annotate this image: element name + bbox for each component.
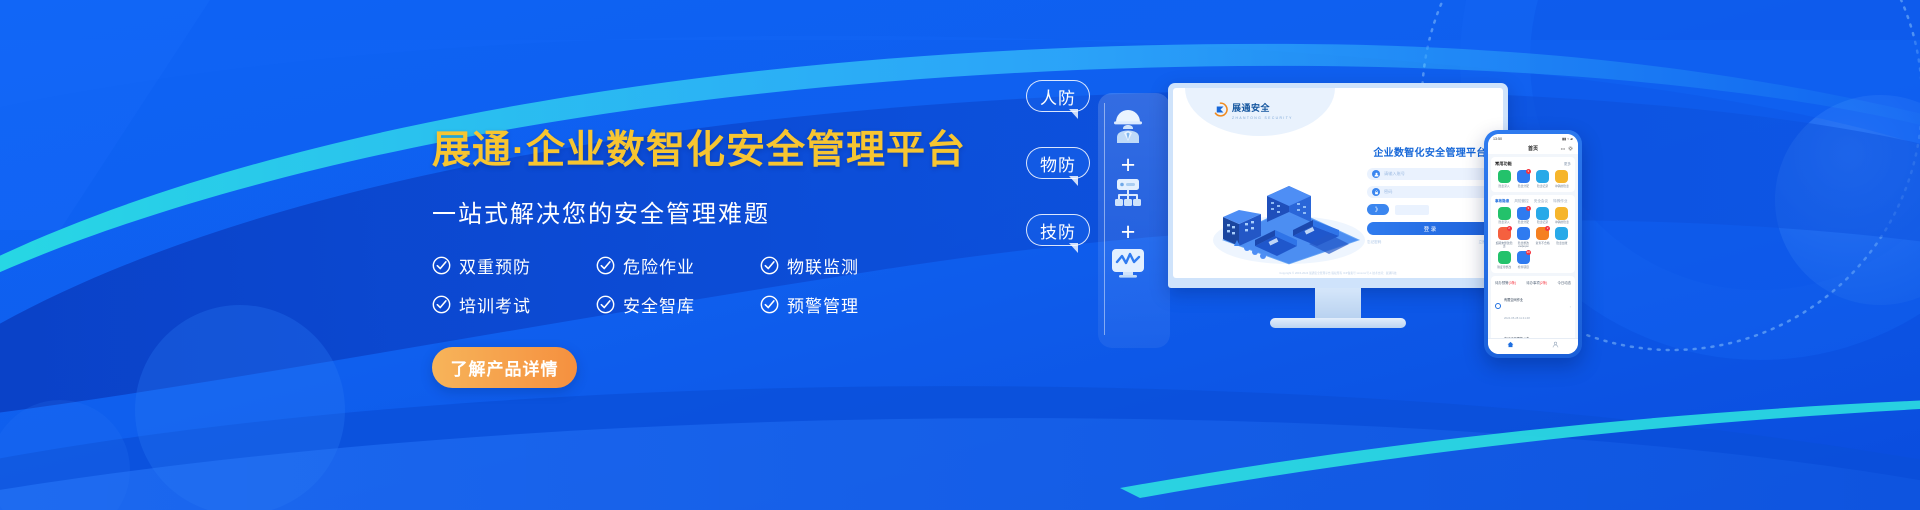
- forgot-password-link[interactable]: 忘记密码: [1367, 240, 1381, 245]
- defense-connector-line: [1104, 103, 1105, 335]
- app-icon: [1555, 227, 1568, 240]
- monitor-bezel: 展通安全 ZHANTONG SECURITY: [1168, 83, 1508, 288]
- feature-label: 危险作业: [623, 253, 695, 278]
- app-label: 隐患分配: [1518, 185, 1529, 188]
- feature-item-1: 危险作业: [596, 253, 714, 278]
- tab-item[interactable]: 风险管控: [1514, 199, 1528, 204]
- nav-title: 首页: [1528, 145, 1538, 152]
- product-visual: 人防 物防 技防 + +: [1020, 55, 1660, 475]
- app-cell[interactable]: 隐患录入: [1495, 207, 1513, 225]
- mobile-phone-mockup: 13:50 ▮▮ ⌁ ▰ 首页 ••• 常用功能 更多: [1484, 130, 1582, 358]
- app-cell[interactable]: 冲销的隐患: [1553, 170, 1571, 188]
- isometric-city-illustration: [1193, 174, 1373, 266]
- feature-label: 预警管理: [787, 292, 859, 317]
- learn-more-button[interactable]: 了解产品详情: [432, 347, 577, 388]
- app-label: 冲销的隐患: [1555, 221, 1569, 224]
- list-tab-todo-label: 待办事项: [1526, 281, 1540, 285]
- desktop-monitor: 展通安全 ZHANTONG SECURITY: [1168, 83, 1508, 328]
- feature-row-2: 培训考试 安全智库 预警管理: [432, 292, 952, 317]
- phone-screen: 13:50 ▮▮ ⌁ ▰ 首页 ••• 常用功能 更多: [1488, 134, 1578, 354]
- app-label: 隐患整改информ: [1514, 242, 1532, 248]
- monitor-screen: 展通安全 ZHANTONG SECURITY: [1173, 88, 1503, 278]
- feature-item-5: 预警管理: [760, 292, 878, 317]
- defense-label-wufang: 物防: [1026, 147, 1090, 179]
- app-cell[interactable]: 2 超期未整改隐患: [1495, 227, 1513, 248]
- password-placeholder: 密码: [1384, 189, 1392, 195]
- app-label: 冲销的隐患: [1555, 185, 1569, 188]
- app-label: 隐患录入: [1499, 185, 1510, 188]
- captcha-row[interactable]: 》: [1367, 204, 1493, 215]
- app-label: 隐患分配: [1518, 221, 1529, 224]
- tab-item[interactable]: 特殊作业: [1553, 199, 1567, 204]
- login-links: 忘记密码 立即注册: [1367, 240, 1493, 245]
- user-icon: [1372, 170, 1380, 178]
- captcha-track: [1395, 205, 1429, 215]
- feature-row-1: 双重预防 危险作业 物联监测: [432, 253, 952, 278]
- list-item[interactable]: 有限空间作业 2024-05-28 11:41:48 ›: [1495, 288, 1571, 324]
- app-label: 隐患录入: [1499, 221, 1510, 224]
- check-circle-icon: [760, 295, 779, 314]
- app-grid: 隐患录入 3 隐患分配 隐患记录: [1495, 170, 1571, 188]
- app-label: 超期未整改隐患: [1495, 242, 1513, 248]
- app-cell[interactable]: 3 隐患分配: [1514, 207, 1532, 225]
- badge-count: 2: [1507, 226, 1512, 231]
- app-cell[interactable]: 隐患整改информ: [1514, 227, 1532, 248]
- app-cell[interactable]: 隐患录入: [1495, 170, 1513, 188]
- captcha-slider-button[interactable]: 》: [1367, 204, 1389, 215]
- logo-wordmark: 展通安全: [1232, 103, 1270, 113]
- tabbar-item-profile[interactable]: 我的: [1552, 335, 1559, 354]
- feature-item-0: 双重预防: [432, 253, 550, 278]
- app-label: 验证待整改: [1497, 266, 1511, 269]
- tab-item[interactable]: 事故隐患: [1495, 199, 1509, 204]
- list-bullet-icon: [1495, 303, 1501, 309]
- check-circle-icon: [596, 295, 615, 314]
- monitor-stand-neck: [1315, 288, 1361, 318]
- phone-navbar: 首页 •••: [1488, 143, 1578, 154]
- section-action[interactable]: 更多: [1564, 162, 1571, 167]
- app-cell[interactable]: 隐患记录: [1534, 207, 1552, 225]
- phone-section-common: 常用功能 更多 隐患录入 3 隐患分配: [1491, 157, 1575, 192]
- badge-count: 3: [1526, 206, 1531, 211]
- phone-status-bar: 13:50 ▮▮ ⌁ ▰: [1488, 134, 1578, 143]
- defense-label-jifang: 技防: [1026, 214, 1090, 246]
- hero-copy: 展通·企业数智化安全管理平台 一站式解决您的安全管理难题 双重预防 危险作业: [432, 130, 952, 388]
- phone-tabbar: 首页 我的: [1488, 338, 1578, 354]
- list-tab-warning-label: 待办预警: [1495, 281, 1509, 285]
- monitor-waveform-icon: [1108, 241, 1148, 281]
- app-icon: [1536, 207, 1549, 220]
- logo-mark-icon: [1213, 102, 1228, 117]
- copyright-text: Copyright © 2015-2024 展通安全管理平台 版权所有 ICP备…: [1173, 271, 1503, 275]
- list-tab-todo[interactable]: 待办事项(2条): [1526, 280, 1547, 285]
- username-placeholder: 请输入账号: [1384, 171, 1405, 177]
- app-icon: 3: [1517, 207, 1530, 220]
- login-panel: 企业数智化安全管理平台 请输入账号 密码: [1367, 144, 1493, 245]
- badge-count: 2: [1545, 226, 1550, 231]
- badge-count: 3: [1526, 169, 1531, 174]
- app-label: 检查项目: [1518, 266, 1529, 269]
- worker-helmet-icon: [1108, 105, 1148, 145]
- app-cell[interactable]: 隐患台账: [1553, 227, 1571, 248]
- app-icon: [1555, 207, 1568, 220]
- feature-item-4: 安全智库: [596, 292, 714, 317]
- phone-section-hazard: 事故隐患 风险管控 安全会议 特殊作业 隐患录入 3: [1491, 195, 1575, 273]
- app-icon: 2: [1498, 227, 1511, 240]
- monitor-stand-base: [1270, 318, 1406, 328]
- status-signal-icons: ▮▮ ⌁ ▰: [1562, 137, 1573, 141]
- check-circle-icon: [432, 256, 451, 275]
- app-icon: 2: [1536, 227, 1549, 240]
- app-label: 隐患记录: [1537, 221, 1548, 224]
- login-title: 企业数智化安全管理平台: [1367, 144, 1493, 159]
- tab-item[interactable]: 安全会议: [1534, 199, 1548, 204]
- login-submit-button[interactable]: 登 录: [1367, 222, 1493, 235]
- username-field[interactable]: 请输入账号: [1367, 168, 1493, 180]
- app-icon: 3: [1517, 170, 1530, 183]
- app-label: 隐患记录: [1537, 185, 1548, 188]
- app-icon: [1498, 251, 1511, 264]
- home-icon: [1507, 335, 1514, 353]
- section-tabs: 事故隐患 风险管控 安全会议 特殊作业: [1495, 199, 1571, 204]
- platform-logo: 展通安全 ZHANTONG SECURITY: [1213, 98, 1293, 120]
- check-circle-icon: [432, 295, 451, 314]
- lock-icon: [1372, 188, 1380, 196]
- feature-label: 安全智库: [623, 292, 695, 317]
- feature-list: 双重预防 危险作业 物联监测: [432, 253, 952, 317]
- tabbar-item-home[interactable]: 首页: [1507, 335, 1514, 354]
- section-header: 常用功能 更多: [1495, 161, 1571, 167]
- app-label: 复查不合格: [1536, 242, 1550, 245]
- app-icon: 10: [1517, 251, 1530, 264]
- feature-label: 物联监测: [787, 253, 859, 278]
- page-subtitle: 一站式解决您的安全管理难题: [432, 194, 952, 229]
- hero-banner: 展通·企业数智化安全管理平台 一站式解决您的安全管理难题 双重预防 危险作业: [0, 0, 1920, 510]
- chevron-right-icon: ›: [1570, 304, 1571, 309]
- app-cell[interactable]: 2 复查不合格: [1534, 227, 1552, 248]
- app-icon: [1536, 170, 1549, 183]
- app-label: 隐患台账: [1556, 242, 1567, 245]
- list-header: 待办预警(3条) 待办事项(2条) 今日动态: [1495, 280, 1571, 285]
- feature-label: 培训考试: [459, 292, 531, 317]
- list-item-text: 有限空间作业 2024-05-28 11:41:48: [1504, 288, 1567, 324]
- logo-text-block: 展通安全 ZHANTONG SECURITY: [1232, 98, 1293, 120]
- app-cell[interactable]: 10 检查项目: [1514, 251, 1532, 269]
- section-title: 常用功能: [1495, 161, 1512, 167]
- app-cell[interactable]: 验证待整改: [1495, 251, 1513, 269]
- list-tab-todo-count: (2条): [1540, 281, 1548, 285]
- list-item-time: 2024-05-28 11:41:48: [1504, 316, 1530, 320]
- check-circle-icon: [760, 256, 779, 275]
- feature-label: 双重预防: [459, 253, 531, 278]
- user-icon: [1552, 335, 1559, 353]
- badge-count: 10: [1526, 250, 1531, 255]
- more-dots-icon[interactable]: •••: [1561, 146, 1565, 151]
- app-icon: [1517, 227, 1530, 240]
- app-icon: [1555, 170, 1568, 183]
- app-icon: [1498, 170, 1511, 183]
- password-field[interactable]: 密码: [1367, 186, 1493, 198]
- status-time: 13:50: [1493, 137, 1502, 141]
- app-cell[interactable]: 冲销的隐患: [1553, 207, 1571, 225]
- app-cell[interactable]: 3 隐患分配: [1514, 170, 1532, 188]
- feature-item-3: 培训考试: [432, 292, 550, 317]
- app-cell[interactable]: 隐患记录: [1534, 170, 1552, 188]
- list-tab-warning-count: (3条): [1509, 281, 1517, 285]
- device-network-icon: [1108, 173, 1148, 213]
- logo-subtext: ZHANTONG SECURITY: [1232, 116, 1293, 120]
- list-item-title: 有限空间作业: [1504, 298, 1523, 302]
- list-tab-today[interactable]: 今日动态: [1557, 280, 1571, 285]
- app-grid: 隐患录入 3 隐患分配 隐患记录: [1495, 207, 1571, 269]
- check-circle-icon: [596, 256, 615, 275]
- list-tab-warning[interactable]: 待办预警(3条): [1495, 280, 1516, 285]
- gear-icon[interactable]: [1568, 146, 1573, 151]
- page-title: 展通·企业数智化安全管理平台: [432, 130, 952, 173]
- feature-item-2: 物联监测: [760, 253, 878, 278]
- app-icon: [1498, 207, 1511, 220]
- defense-label-renfang: 人防: [1026, 80, 1090, 112]
